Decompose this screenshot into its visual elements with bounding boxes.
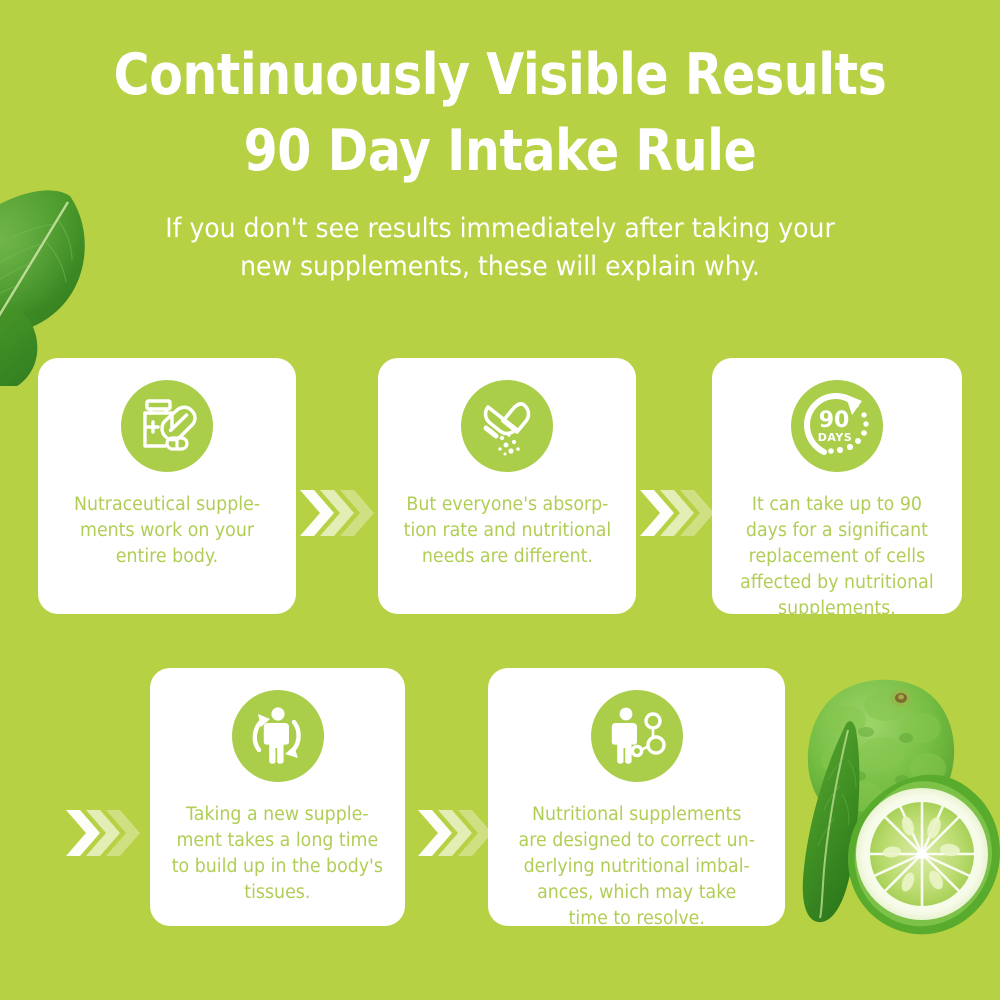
infographic-canvas: Continuously Visible Results 90 Day Inta… — [0, 0, 1000, 1000]
card-3-line-4: affected by nutritional — [740, 570, 933, 596]
pill-bottle-capsule-icon — [121, 380, 213, 472]
person-molecule-icon — [591, 690, 683, 782]
page-title-line-1: Continuously Visible Results — [70, 38, 930, 112]
card-1-line-1: Nutraceutical supple- — [74, 492, 260, 518]
card-2[interactable]: But everyone's absorp- tion rate and nut… — [378, 358, 636, 614]
card-4-line-4: tissues. — [172, 880, 383, 906]
card-1-line-2: ments work on your — [74, 518, 260, 544]
card-4[interactable]: Taking a new supple- ment takes a long t… — [150, 668, 405, 926]
card-2-line-1: But everyone's absorp- — [403, 492, 611, 518]
card-4-line-1: Taking a new supple- — [172, 802, 383, 828]
card-5-text: Nutritional supplements are designed to … — [505, 802, 768, 932]
card-2-text: But everyone's absorp- tion rate and nut… — [390, 492, 624, 570]
card-3-line-3: replacement of cells — [740, 544, 933, 570]
icon-label-days: DAYS — [818, 431, 852, 444]
card-3-line-5: supplements. — [740, 596, 933, 622]
card-1[interactable]: Nutraceutical supple- ments work on your… — [38, 358, 296, 614]
open-capsules-granules-icon — [461, 380, 553, 472]
card-4-line-3: to build up in the body's — [172, 854, 383, 880]
card-3-line-2: days for a significant — [740, 518, 933, 544]
card-1-text: Nutraceutical supple- ments work on your… — [61, 492, 273, 570]
card-3-text: It can take up to 90 days for a signific… — [727, 492, 947, 622]
card-3[interactable]: 90 DAYS It can take up to 90 days for a … — [712, 358, 962, 614]
card-5-line-1: Nutritional supplements — [518, 802, 754, 828]
page-subtitle: If you don't see results immediately aft… — [35, 210, 965, 286]
card-4-line-2: ment takes a long time — [172, 828, 383, 854]
page-subtitle-line-2: new supplements, these will explain why. — [35, 248, 965, 286]
bergamot-fruit-photo — [770, 668, 1000, 936]
page-title-line-2: 90 Day Intake Rule — [70, 114, 930, 188]
card-2-line-3: needs are different. — [403, 544, 611, 570]
card-1-line-3: entire body. — [74, 544, 260, 570]
card-5[interactable]: Nutritional supplements are designed to … — [488, 668, 785, 926]
icon-label-90: 90 — [819, 408, 850, 433]
card-2-line-2: tion rate and nutritional — [403, 518, 611, 544]
person-refresh-cycle-icon — [232, 690, 324, 782]
card-5-line-4: ances, which may take — [518, 880, 754, 906]
card-5-line-2: are designed to correct un- — [518, 828, 754, 854]
page-subtitle-line-1: If you don't see results immediately aft… — [35, 210, 965, 248]
card-5-line-5: time to resolve. — [518, 906, 754, 932]
card-3-line-1: It can take up to 90 — [740, 492, 933, 518]
card-4-text: Taking a new supple- ment takes a long t… — [159, 802, 396, 906]
ninety-days-cycle-icon: 90 DAYS — [791, 380, 883, 472]
card-5-line-3: derlying nutritional imbal- — [518, 854, 754, 880]
header: Continuously Visible Results 90 Day Inta… — [0, 0, 1000, 286]
